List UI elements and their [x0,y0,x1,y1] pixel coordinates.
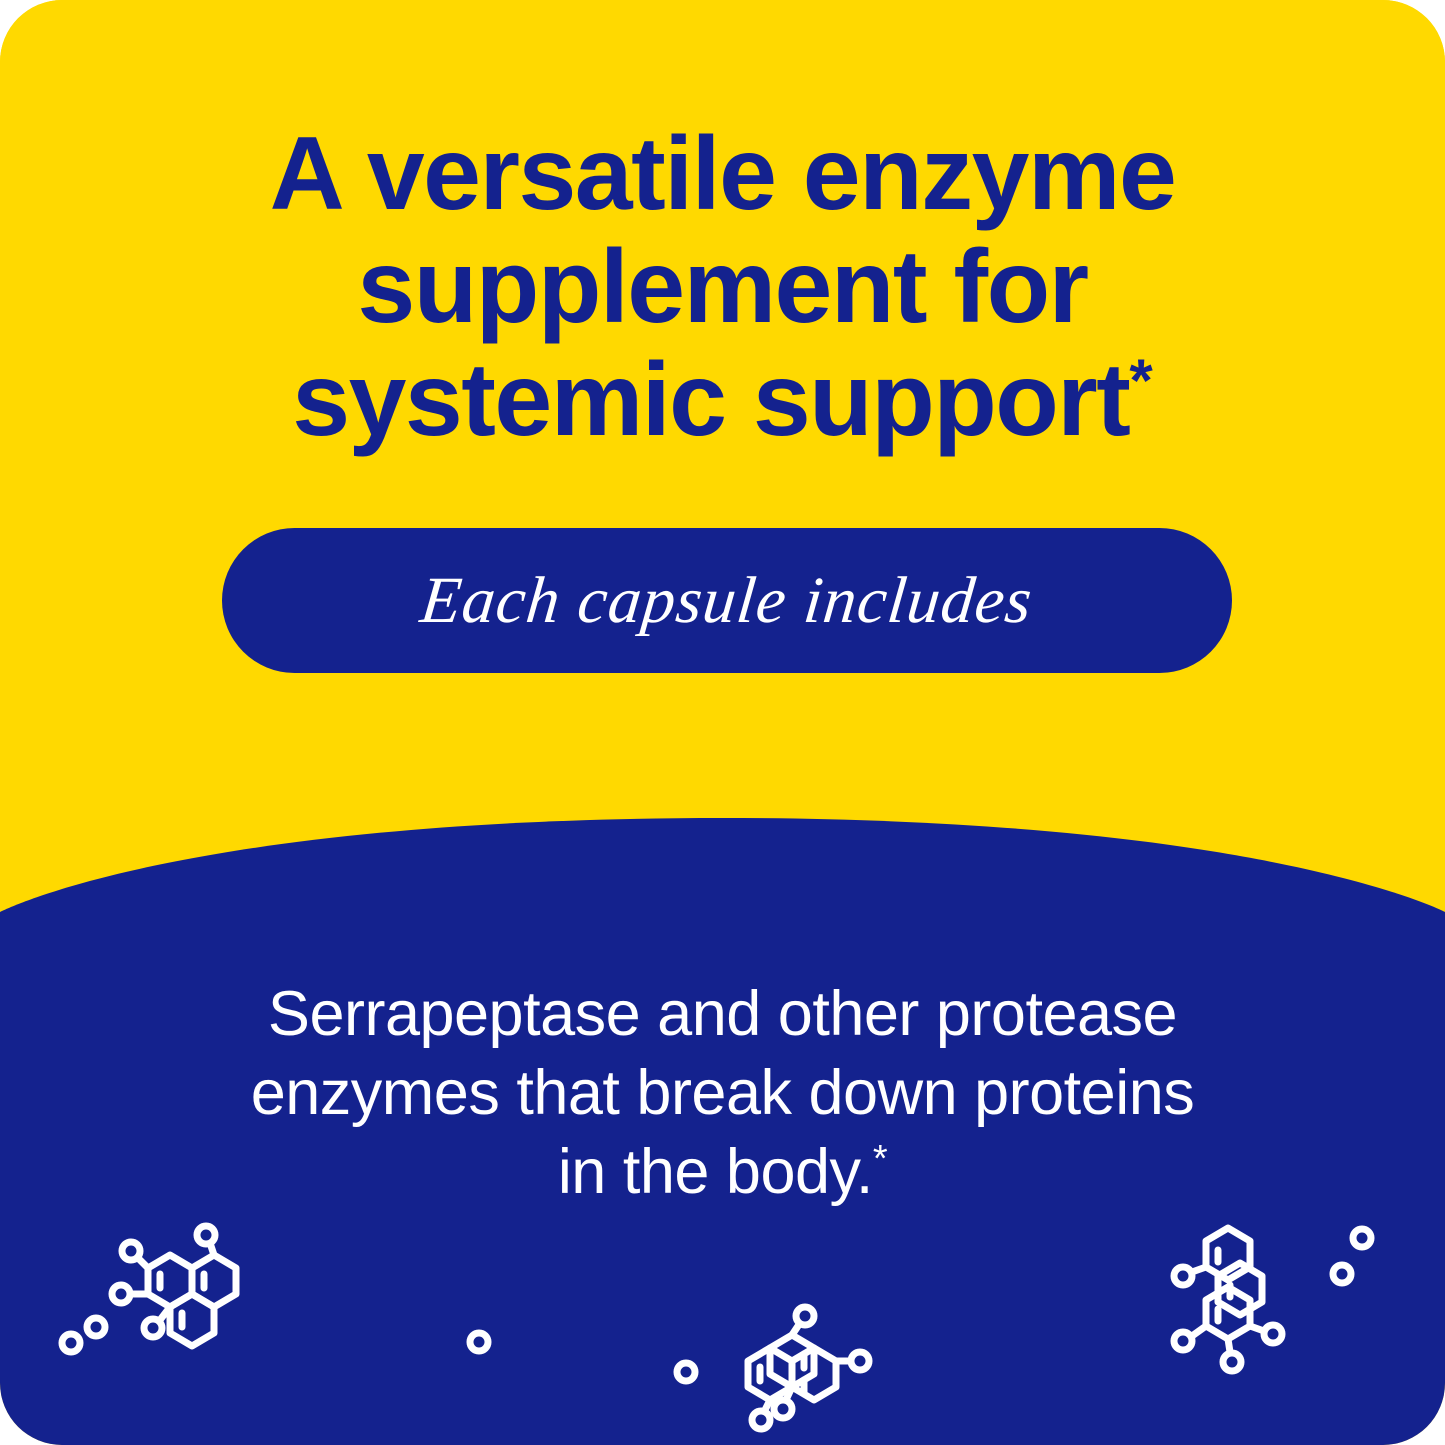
body-description: Serrapeptase and other protease enzymes … [0,975,1445,1212]
molecule-icon-left [112,1226,236,1346]
page-title: A versatile enzyme supplement for system… [0,118,1445,457]
product-feature-card: A versatile enzyme supplement for system… [0,0,1445,1445]
body-line-3-wrap: in the body.* [95,1133,1350,1212]
decor-dot [1353,1229,1371,1247]
body-line-1: Serrapeptase and other protease [95,975,1350,1054]
headline-line-1: A versatile enzyme [70,118,1375,231]
headline-line-3-wrap: systemic support* [70,344,1375,457]
decor-dot [470,1333,488,1351]
decor-dot [677,1363,695,1381]
molecule-icon-center [748,1307,869,1429]
each-capsule-includes-badge[interactable]: Each capsule includes [222,528,1232,673]
headline-line-3: systemic support [292,342,1129,458]
molecule-icon-right [1174,1228,1282,1371]
decor-dot [62,1334,80,1352]
headline-footnote-asterisk: * [1129,347,1152,414]
decor-dot [87,1318,105,1336]
body-line-2: enzymes that break down proteins [95,1054,1350,1133]
decor-dot [1333,1265,1351,1283]
body-footnote-asterisk: * [873,1138,887,1180]
pill-label: Each capsule includes [417,563,1036,639]
body-line-3: in the body. [558,1137,873,1207]
headline-line-2: supplement for [70,231,1375,344]
